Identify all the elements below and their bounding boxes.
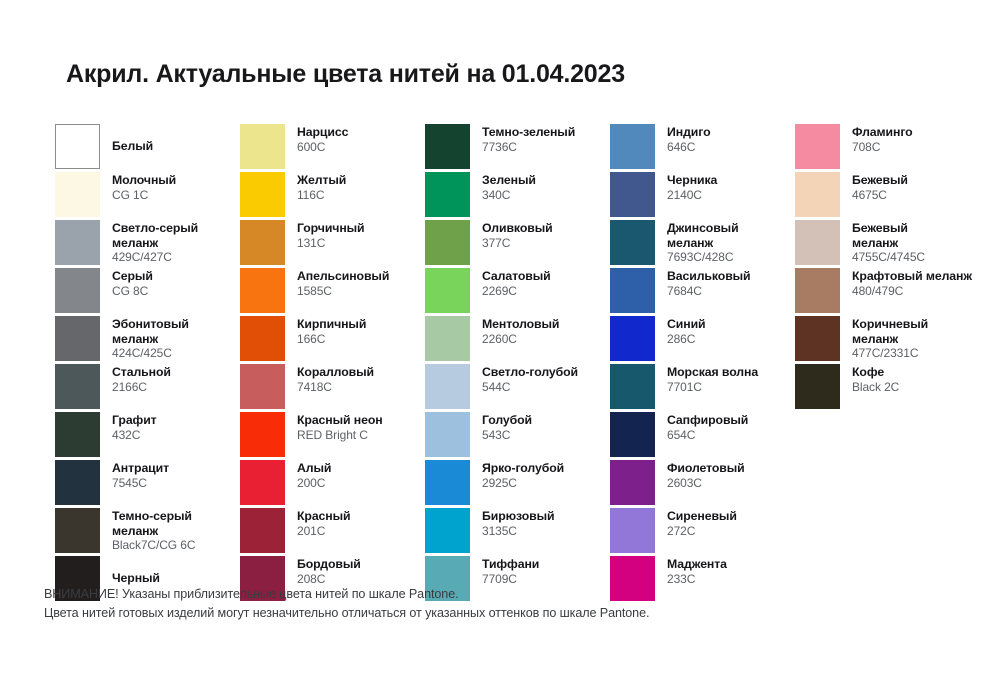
color-name: Коралловый [297,365,374,380]
pantone-code: 654C [667,428,748,443]
color-chip[interactable] [795,220,840,265]
swatch-row[interactable]: Графит432C [55,412,240,457]
color-chip[interactable] [610,268,655,313]
color-name-line-2: меланж [852,236,925,251]
color-name: Темно-зеленый [482,125,575,140]
color-name: Стальной [112,365,171,380]
color-name: Морская волна [667,365,758,380]
pantone-code: 7545C [112,476,169,491]
color-chip[interactable] [240,508,285,553]
swatch-label-block: Горчичный131C [285,220,365,250]
swatch-row[interactable]: Бежевый4675C [795,172,1000,217]
swatch-row[interactable]: Индиго646C [610,124,795,169]
pantone-code: 2140C [667,188,717,203]
color-name: Бежевый [852,221,925,236]
swatch-label-block: Сапфировый654C [655,412,748,442]
pantone-code: 7693C/428C [667,250,739,265]
swatch-label-block: Эбонитовыймеланж424C/425C [100,316,189,361]
pantone-code: 3135C [482,524,554,539]
color-name: Кирпичный [297,317,366,332]
swatch-row[interactable]: Сиреневый272C [610,508,795,553]
color-chip[interactable] [55,268,100,313]
swatch-label-block: Фиолетовый2603C [655,460,745,490]
pantone-code: 116C [297,188,346,203]
color-chip[interactable] [240,364,285,409]
color-chip[interactable] [240,172,285,217]
color-name: Апельсиновый [297,269,389,284]
color-name: Черника [667,173,717,188]
pantone-code: 424C/425C [112,346,189,361]
swatch-row[interactable]: Морская волна7701C [610,364,795,409]
color-name: Графит [112,413,157,428]
color-name: Черный [112,571,160,586]
color-name: Сиреневый [667,509,737,524]
swatch-row[interactable]: Зеленый340C [425,172,610,217]
disclaimer-note: ВНИМАНИЕ! Указаны приблизительные цвета … [44,585,649,623]
color-name: Бирюзовый [482,509,554,524]
color-name: Желтый [297,173,346,188]
color-name: Фламинго [852,125,913,140]
color-name: Зеленый [482,173,536,188]
color-chip[interactable] [425,268,470,313]
color-chip[interactable] [610,364,655,409]
swatch-label-block: КофеBlack 2C [840,364,899,394]
swatch-label-block: Нарцисс600C [285,124,348,154]
color-name: Антрацит [112,461,169,476]
pantone-code: RED Bright C [297,428,383,443]
swatch-label-block: Коралловый7418C [285,364,374,394]
swatch-label-block: Васильковый7684C [655,268,751,298]
color-name-line-2: меланж [112,236,198,251]
swatch-column: Фламинго708CБежевый4675CБежевыймеланж475… [795,124,1000,604]
swatch-label-block: Желтый116C [285,172,346,202]
pantone-code: 272C [667,524,737,539]
swatch-label-block: Индиго646C [655,124,711,154]
color-name: Джинсовый [667,221,739,236]
swatch-label-block: Крафтовый меланж480/479C [840,268,972,298]
swatch-label-block: Бежевыймеланж4755C/4745C [840,220,925,265]
swatch-row[interactable]: КофеBlack 2C [795,364,1000,409]
pantone-code: 166C [297,332,366,347]
swatch-label-block: Морская волна7701C [655,364,758,394]
pantone-code: 600C [297,140,348,155]
pantone-code: 544C [482,380,578,395]
disclaimer-line-2: Цвета нитей готовых изделий могут незнач… [44,604,649,623]
swatch-row[interactable]: Белый [55,124,240,169]
swatch-label-block: Светло-серыймеланж429C/427C [100,220,198,265]
color-name: Коричневый [852,317,928,332]
swatch-label-block: Ментоловый2260C [470,316,559,346]
pantone-code: 543C [482,428,532,443]
swatch-row[interactable]: Крафтовый меланж480/479C [795,268,1000,313]
color-name: Тиффани [482,557,539,572]
swatch-row[interactable]: Голубой543C [425,412,610,457]
swatch-label-block: Темно-серыймеланжBlack7C/CG 6C [100,508,195,553]
swatch-row[interactable]: Синий286C [610,316,795,361]
swatch-label-block: Фламинго708C [840,124,913,154]
color-chip[interactable] [795,316,840,361]
color-name: Кофе [852,365,899,380]
color-name: Голубой [482,413,532,428]
color-chip[interactable] [240,316,285,361]
color-chip[interactable] [55,316,100,361]
swatch-label-block: Коричневыймеланж477C/2331C [840,316,928,361]
color-name: Крафтовый меланж [852,269,972,284]
color-name: Молочный [112,173,176,188]
swatch-column: БелыйМолочныйCG 1CСветло-серыймеланж429C… [55,124,240,604]
color-chip[interactable] [425,220,470,265]
color-name-line-2: меланж [852,332,928,347]
swatch-row[interactable]: Горчичный131C [240,220,425,265]
swatch-label-block: Кирпичный166C [285,316,366,346]
swatch-row[interactable]: Ментоловый2260C [425,316,610,361]
swatch-label-block: СерыйCG 8C [100,268,153,298]
swatch-row[interactable]: Кирпичный166C [240,316,425,361]
swatch-row[interactable]: Ярко-голубой2925C [425,460,610,505]
color-chip[interactable] [55,124,100,169]
pantone-code: 2603C [667,476,745,491]
swatch-column: Индиго646CЧерника2140CДжинсовыймеланж769… [610,124,795,604]
color-chip[interactable] [610,172,655,217]
pantone-code: 2166C [112,380,171,395]
pantone-code: 201C [297,524,350,539]
color-chip[interactable] [55,508,100,553]
color-chart-page: Акрил. Актуальные цвета нитей на 01.04.2… [0,0,1000,683]
color-name: Эбонитовый [112,317,189,332]
color-name: Салатовый [482,269,551,284]
page-title: Акрил. Актуальные цвета нитей на 01.04.2… [66,60,625,89]
swatch-label-block: Бордовый208C [285,556,361,586]
color-name: Нарцисс [297,125,348,140]
pantone-code: 4755C/4745C [852,250,925,265]
swatch-row[interactable]: Джинсовыймеланж7693C/428C [610,220,795,265]
pantone-code: 233C [667,572,727,587]
swatch-row[interactable]: Фиолетовый2603C [610,460,795,505]
swatch-label-block: Темно-зеленый7736C [470,124,575,154]
swatch-label-block: Апельсиновый1585C [285,268,389,298]
swatch-label-block: Графит432C [100,412,157,442]
swatch-row[interactable]: МолочныйCG 1C [55,172,240,217]
color-chip[interactable] [55,220,100,265]
swatch-label-block: Салатовый2269C [470,268,551,298]
color-name: Сапфировый [667,413,748,428]
swatch-label-block: Бежевый4675C [840,172,908,202]
pantone-code: CG 8C [112,284,153,299]
color-chip[interactable] [240,268,285,313]
swatch-row[interactable]: Черника2140C [610,172,795,217]
color-chip[interactable] [425,316,470,361]
swatch-row[interactable]: СерыйCG 8C [55,268,240,313]
color-chip[interactable] [240,412,285,457]
pantone-code: 286C [667,332,706,347]
color-chip[interactable] [610,220,655,265]
swatch-column: Нарцисс600CЖелтый116CГорчичный131CАпельс… [240,124,425,604]
color-chip[interactable] [425,172,470,217]
swatch-row[interactable]: Эбонитовыймеланж424C/425C [55,316,240,361]
swatch-label-block: Джинсовыймеланж7693C/428C [655,220,739,265]
swatch-row[interactable]: Светло-серыймеланж429C/427C [55,220,240,265]
color-name: Бежевый [852,173,908,188]
swatch-grid: БелыйМолочныйCG 1CСветло-серыймеланж429C… [55,124,1000,604]
pantone-code: 7709C [482,572,539,587]
color-chip[interactable] [610,508,655,553]
pantone-code: 480/479C [852,284,972,299]
swatch-row[interactable]: Коричневыймеланж477C/2331C [795,316,1000,361]
swatch-label-block: Ярко-голубой2925C [470,460,564,490]
pantone-code: 708C [852,140,913,155]
color-chip[interactable] [425,124,470,169]
pantone-code: 7418C [297,380,374,395]
color-chip[interactable] [610,412,655,457]
swatch-label-block: Черника2140C [655,172,717,202]
swatch-row[interactable]: Васильковый7684C [610,268,795,313]
pantone-code: 7701C [667,380,758,395]
swatch-row[interactable]: Фламинго708C [795,124,1000,169]
color-name-line-2: меланж [667,236,739,251]
color-name-line-2: меланж [112,332,189,347]
color-chip[interactable] [55,364,100,409]
pantone-code: 477C/2331C [852,346,928,361]
swatch-column: Темно-зеленый7736CЗеленый340CОливковый37… [425,124,610,604]
swatch-label-block: Красный201C [285,508,350,538]
swatch-label-block: Бирюзовый3135C [470,508,554,538]
color-name: Светло-серый [112,221,198,236]
swatch-label-block: Тиффани7709C [470,556,539,586]
color-name: Белый [112,139,153,154]
swatch-row[interactable]: Алый200C [240,460,425,505]
swatch-label-block: Зеленый340C [470,172,536,202]
color-chip[interactable] [425,412,470,457]
color-chip[interactable] [240,220,285,265]
color-chip[interactable] [425,508,470,553]
color-chip[interactable] [795,124,840,169]
pantone-code: 429C/427C [112,250,198,265]
color-chip[interactable] [240,124,285,169]
pantone-code: Black 2C [852,380,899,395]
color-chip[interactable] [55,412,100,457]
color-name: Синий [667,317,706,332]
swatch-row[interactable]: Желтый116C [240,172,425,217]
color-name: Горчичный [297,221,365,236]
swatch-row[interactable]: Красный неонRED Bright C [240,412,425,457]
pantone-code: Black7C/CG 6C [112,538,195,553]
swatch-row[interactable]: Красный201C [240,508,425,553]
swatch-row[interactable]: Оливковый377C [425,220,610,265]
swatch-label-block: Красный неонRED Bright C [285,412,383,442]
color-name: Васильковый [667,269,751,284]
swatch-row[interactable]: Апельсиновый1585C [240,268,425,313]
color-name: Алый [297,461,331,476]
color-chip[interactable] [795,364,840,409]
swatch-label-block: Синий286C [655,316,706,346]
color-chip[interactable] [610,460,655,505]
pantone-code: 432C [112,428,157,443]
color-name: Маджента [667,557,727,572]
pantone-code: 2925C [482,476,564,491]
color-chip[interactable] [55,172,100,217]
pantone-code: 131C [297,236,365,251]
pantone-code: 646C [667,140,711,155]
swatch-row[interactable]: Бежевыймеланж4755C/4745C [795,220,1000,265]
swatch-label-block: Антрацит7545C [100,460,169,490]
color-chip[interactable] [610,124,655,169]
pantone-code: 4675C [852,188,908,203]
swatch-label-block: Маджента233C [655,556,727,586]
color-chip[interactable] [795,172,840,217]
pantone-code: 2269C [482,284,551,299]
swatch-label-block: Алый200C [285,460,331,490]
color-name: Фиолетовый [667,461,745,476]
pantone-code: 208C [297,572,361,587]
color-name: Оливковый [482,221,553,236]
color-name: Бордовый [297,557,361,572]
disclaimer-line-1: ВНИМАНИЕ! Указаны приблизительные цвета … [44,585,649,604]
swatch-label-block: Сиреневый272C [655,508,737,538]
color-chip[interactable] [425,460,470,505]
swatch-row[interactable]: Темно-серыймеланжBlack7C/CG 6C [55,508,240,553]
color-name-line-2: меланж [112,524,195,539]
swatch-row[interactable]: Стальной2166C [55,364,240,409]
pantone-code: 7736C [482,140,575,155]
color-name: Ментоловый [482,317,559,332]
color-chip[interactable] [425,364,470,409]
color-name: Красный [297,509,350,524]
swatch-label-block: Светло-голубой544C [470,364,578,394]
swatch-row[interactable]: Антрацит7545C [55,460,240,505]
pantone-code: 7684C [667,284,751,299]
color-name: Серый [112,269,153,284]
color-name: Светло-голубой [482,365,578,380]
swatch-row[interactable]: Нарцисс600C [240,124,425,169]
swatch-label-block: МолочныйCG 1C [100,172,176,202]
color-chip[interactable] [795,268,840,313]
pantone-code: 377C [482,236,553,251]
swatch-row[interactable]: Салатовый2269C [425,268,610,313]
swatch-label-block: Стальной2166C [100,364,171,394]
color-chip[interactable] [55,460,100,505]
pantone-code: 200C [297,476,331,491]
swatch-row[interactable]: Сапфировый654C [610,412,795,457]
color-chip[interactable] [240,460,285,505]
pantone-code: 2260C [482,332,559,347]
swatch-row[interactable]: Светло-голубой544C [425,364,610,409]
pantone-code: 1585C [297,284,389,299]
swatch-row[interactable]: Коралловый7418C [240,364,425,409]
color-chip[interactable] [610,316,655,361]
color-name: Индиго [667,125,711,140]
pantone-code: CG 1C [112,188,176,203]
pantone-code: 340C [482,188,536,203]
swatch-label-block: Белый [100,124,153,169]
swatch-label-block: Оливковый377C [470,220,553,250]
color-name: Красный неон [297,413,383,428]
color-name: Ярко-голубой [482,461,564,476]
swatch-row[interactable]: Бирюзовый3135C [425,508,610,553]
color-name: Темно-серый [112,509,195,524]
swatch-label-block: Голубой543C [470,412,532,442]
swatch-row[interactable]: Темно-зеленый7736C [425,124,610,169]
